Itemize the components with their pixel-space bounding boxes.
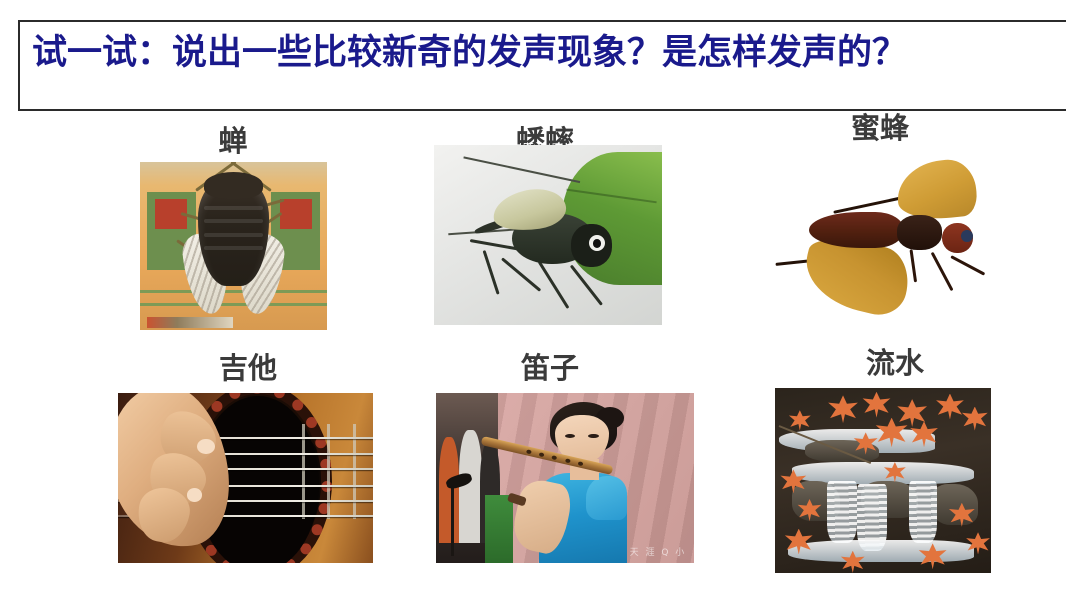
flute-hole-2: [539, 452, 545, 457]
flute-hole-4: [565, 458, 571, 463]
flute-green-banner: [485, 495, 513, 563]
flute-performer-eye-right: [588, 434, 598, 438]
item-bee: 蜜蜂: [755, 105, 1005, 330]
page-title: 试一试：说出一些比较新奇的发声现象？是怎样发声的？: [32, 30, 907, 76]
flute-audience-1: [439, 437, 460, 542]
cicada-stripe-lower: [140, 303, 327, 306]
cicada-head: [204, 172, 264, 199]
waterfall-cascade-left: [827, 481, 857, 544]
cicada-segment-2: [204, 219, 264, 223]
flute-photo-watermark: 天 涯 Q 小: [630, 545, 687, 558]
slide-canvas: 试一试：说出一些比较新奇的发声现象？是怎样发声的？ 蝉: [0, 0, 1066, 600]
flute-audience-2: [459, 430, 482, 542]
bee-photo: [761, 147, 999, 327]
guitar-photo: [118, 393, 373, 563]
cicada-foreground-strip: [147, 317, 233, 329]
waterfall-photo: [775, 388, 991, 573]
item-label-bee: 蜜蜂: [755, 105, 1005, 147]
item-cicada: 蝉: [118, 118, 348, 333]
flute-photo: 天 涯 Q 小: [436, 393, 694, 563]
item-guitar: 吉他: [118, 345, 378, 575]
bee-thorax: [897, 215, 942, 249]
item-label-water: 流水: [780, 340, 1010, 382]
guitar-fingernail-2: [187, 488, 202, 502]
item-label-cicada: 蝉: [118, 118, 348, 160]
cricket-photo: [434, 145, 662, 325]
flute-mic-stand: [451, 485, 454, 556]
flute-hole-3: [552, 455, 558, 460]
flute-hole-1: [526, 449, 532, 454]
bee-abdomen: [809, 212, 904, 248]
cicada-red-block-right: [280, 199, 312, 229]
cicada-stripe-upper: [140, 290, 327, 293]
guitar-fingernail-1: [197, 439, 215, 454]
item-label-flute: 笛子: [420, 345, 680, 387]
flute-performer-eye-left: [565, 434, 575, 438]
item-label-guitar: 吉他: [118, 345, 378, 387]
cicada-segment-3: [204, 233, 264, 237]
title-box: 试一试：说出一些比较新奇的发声现象？是怎样发声的？: [18, 20, 1066, 111]
cicada-segment-4: [204, 246, 264, 250]
item-water: 流水: [780, 340, 1010, 580]
item-flute: 笛子: [420, 345, 680, 575]
cricket-eye: [589, 235, 605, 251]
bee-eye: [961, 230, 973, 243]
flute-hole-5: [578, 461, 584, 466]
waterfall-cascade-right: [909, 481, 937, 544]
flute-performer-shoulder: [586, 476, 627, 520]
waterfall-base-pool: [788, 540, 974, 562]
item-cricket: 蟋蟀: [420, 118, 670, 333]
cicada-segment-1: [204, 206, 264, 210]
cicada-photo: [140, 162, 327, 330]
